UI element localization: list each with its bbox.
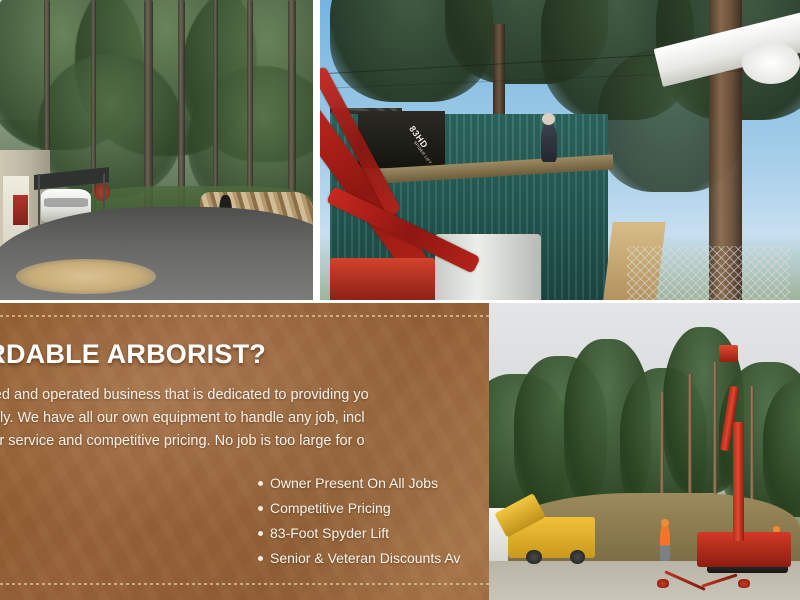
list-item: Competitive Pricing (258, 500, 460, 516)
collage-page: 83HD SPIDER LIFT AFFORDABLE ARBORIST? ve… (0, 0, 800, 600)
worker-ground (660, 526, 670, 562)
driveway-scene (0, 0, 313, 300)
chipper-lift-scene (489, 303, 800, 600)
photo-chipper-and-lift (489, 303, 800, 600)
chipper-wheel (526, 550, 542, 565)
page-title: AFFORDABLE ARBORIST? (0, 339, 532, 370)
roadside-sign (94, 183, 110, 201)
list-item: 83-Foot Spyder Lift (258, 525, 460, 541)
satellite-dish (742, 42, 800, 84)
bullet-dot-icon (258, 556, 263, 561)
outrigger-foot (738, 579, 750, 588)
bullet-dot-icon (258, 506, 263, 511)
chain-link-fence (627, 246, 790, 300)
carport-post (38, 174, 40, 225)
red-bin (13, 195, 29, 225)
photo-crane-roof-work: 83HD SPIDER LIFT (320, 0, 800, 300)
lift-bucket (719, 345, 738, 363)
gutter-horizontal (0, 300, 800, 303)
photo-forest-driveway (0, 0, 313, 300)
list-item-label: Owner Present On All Jobs (270, 475, 438, 491)
outrigger-foot (657, 579, 669, 588)
gutter-vertical (313, 0, 320, 303)
spider-lift-base (330, 258, 436, 300)
worker-on-roof (541, 123, 557, 162)
list-item-label: 83-Foot Spyder Lift (270, 525, 389, 541)
list-item-label: Competitive Pricing (270, 500, 391, 516)
list-item: Senior & Veteran Discounts Av (258, 550, 460, 566)
bullet-list-right: Owner Present On All Jobs Competitive Pr… (258, 475, 460, 575)
lift-mast (733, 422, 744, 541)
bullet-dot-icon (258, 481, 263, 486)
list-item-label: Senior & Veteran Discounts Av (270, 550, 460, 566)
crane-roof-scene: 83HD SPIDER LIFT (320, 0, 800, 300)
bullet-dot-icon (258, 531, 263, 536)
list-item: Owner Present On All Jobs (258, 475, 460, 491)
spider-lift-body (697, 532, 790, 568)
